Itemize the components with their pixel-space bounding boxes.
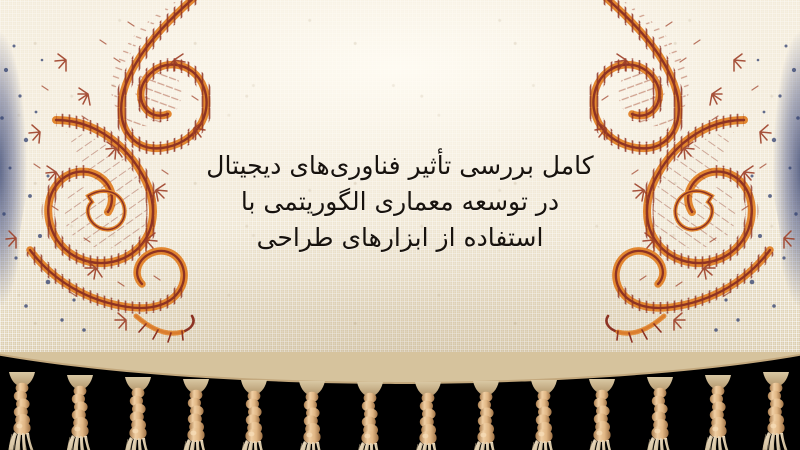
title-line-2: در توسعه معماری الگوریتمی با [0, 184, 800, 220]
slide-canvas: کامل بررسی تأثیر فناوری‌های دیجیتال در ت… [0, 0, 800, 450]
boteh-main-scroll [111, 0, 206, 148]
boteh-main-scroll [593, 0, 688, 148]
title-line-3: استفاده از ابزارهای طراحی [0, 220, 800, 256]
title-line-1: کامل بررسی تأثیر فناوری‌های دیجیتال [0, 148, 800, 184]
slide-title: کامل بررسی تأثیر فناوری‌های دیجیتال در ت… [0, 148, 800, 256]
tassel-fringe [0, 352, 800, 450]
